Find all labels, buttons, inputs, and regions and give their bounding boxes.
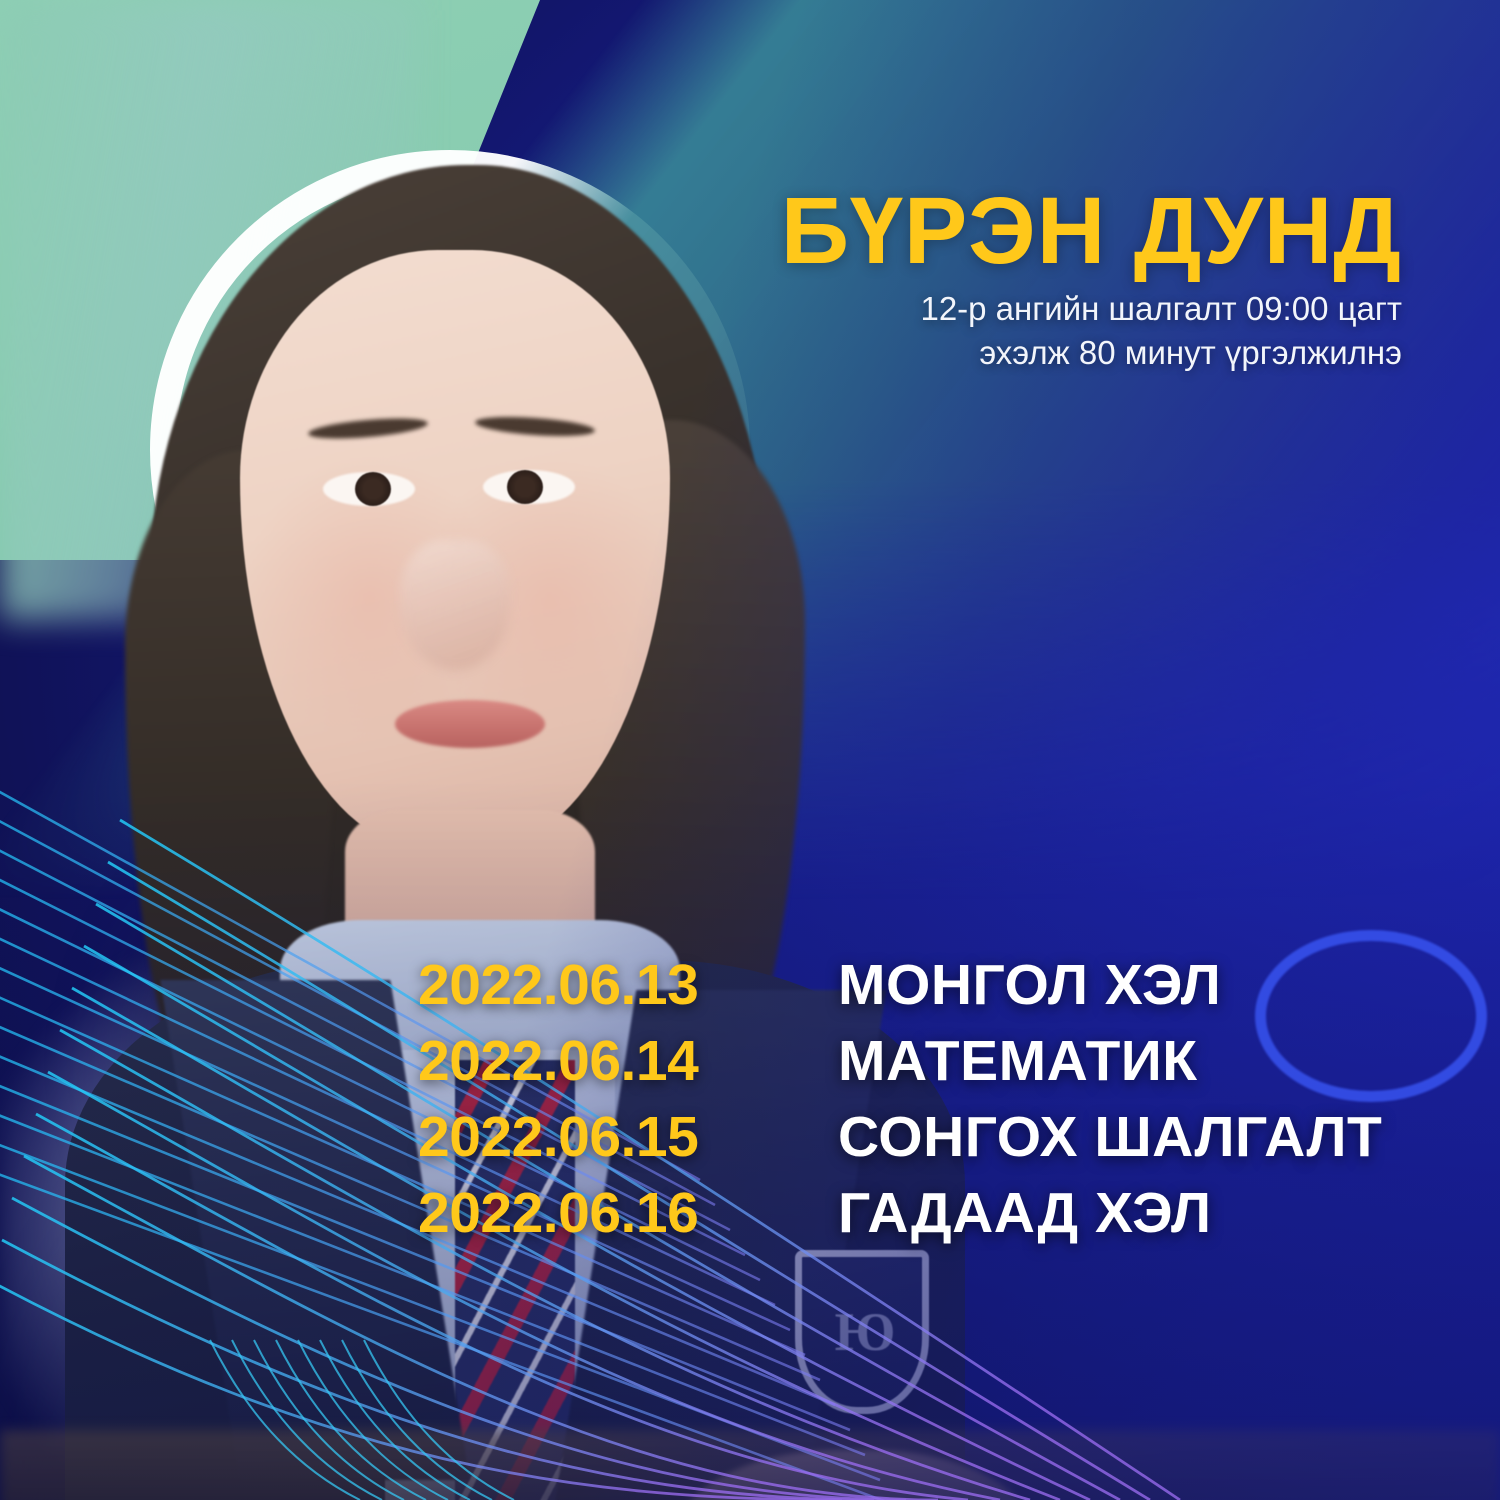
schedule-row: 2022.06.15 СОНГОХ ШАЛГАЛТ	[418, 1104, 1382, 1170]
exam-subject: СОНГОХ ШАЛГАЛТ	[838, 1104, 1382, 1170]
exam-subject: МОНГОЛ ХЭЛ	[838, 952, 1221, 1018]
exam-date: 2022.06.15	[418, 1104, 838, 1170]
exam-subject: ГАДААД ХЭЛ	[838, 1180, 1211, 1246]
exam-date: 2022.06.13	[418, 952, 838, 1018]
exam-schedule-poster: Ю	[0, 0, 1500, 1500]
headline-block: БҮРЭН ДУНД 12-р ангийн шалгалт 09:00 цаг…	[781, 186, 1402, 375]
schedule-row: 2022.06.16 ГАДААД ХЭЛ	[418, 1180, 1382, 1246]
schedule-row: 2022.06.14 МАТЕМАТИК	[418, 1028, 1382, 1094]
exam-subject: МАТЕМАТИК	[838, 1028, 1198, 1094]
exam-date: 2022.06.14	[418, 1028, 838, 1094]
subtitle-line-2: эхэлж 80 минут үргэлжилнэ	[781, 331, 1402, 375]
exam-date: 2022.06.16	[418, 1180, 838, 1246]
page-title: БҮРЭН ДУНД	[781, 186, 1402, 276]
schedule-row: 2022.06.13 МОНГОЛ ХЭЛ	[418, 952, 1382, 1018]
subtitle-line-1: 12-р ангийн шалгалт 09:00 цагт	[781, 287, 1402, 331]
exam-schedule-list: 2022.06.13 МОНГОЛ ХЭЛ 2022.06.14 МАТЕМАТ…	[418, 952, 1382, 1246]
